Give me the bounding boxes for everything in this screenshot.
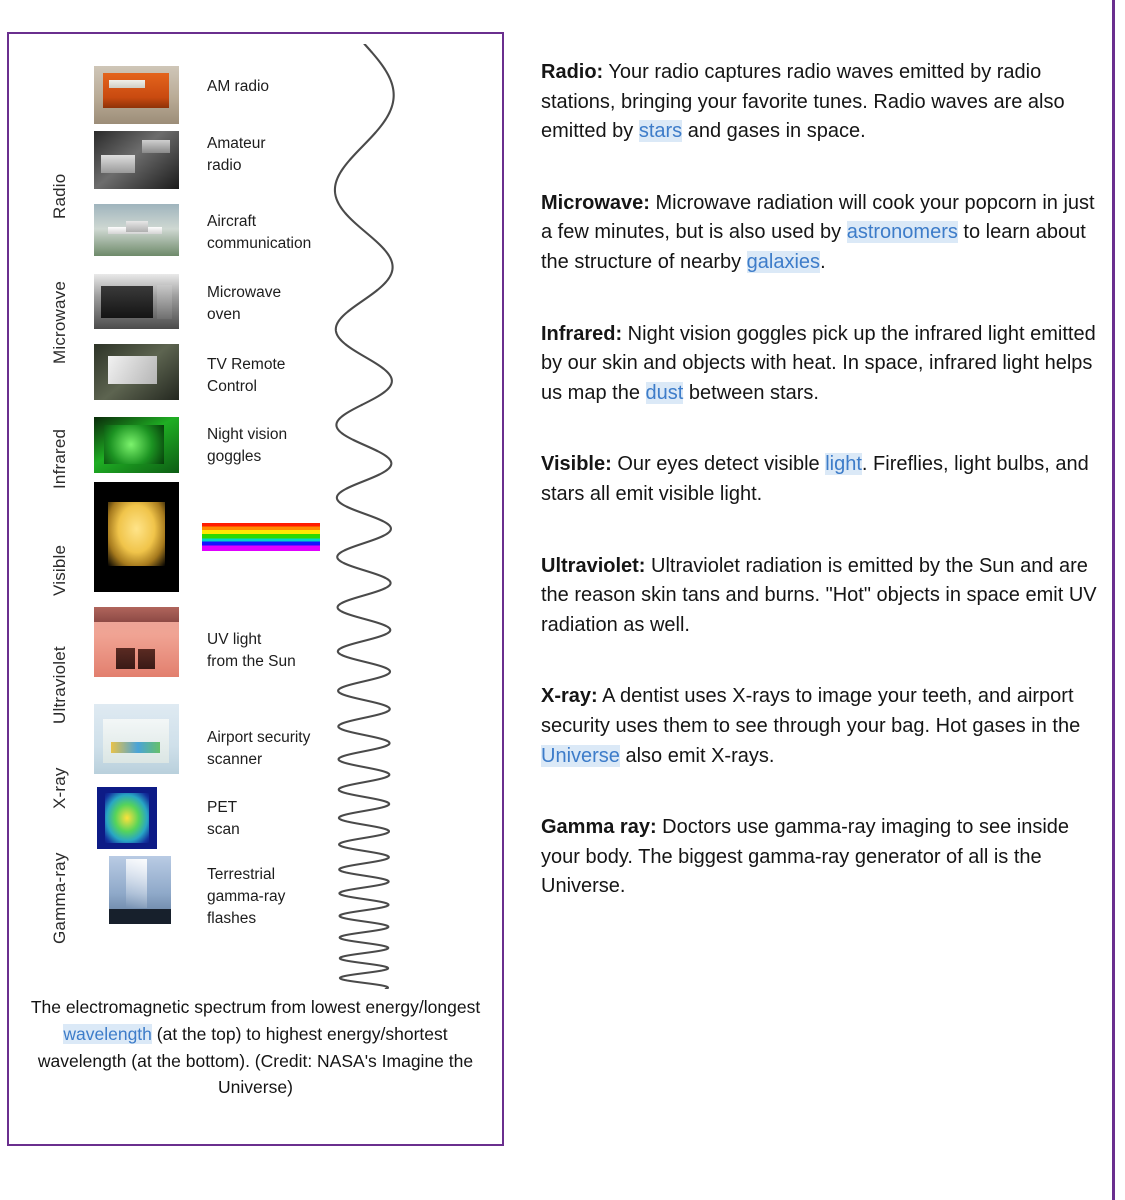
example-label-am-radio: AM radio (207, 76, 269, 98)
visible-spectrum-bar (202, 523, 320, 551)
thumb-layer (111, 742, 160, 753)
inline-text: The electromagnetic spectrum from lowest… (31, 997, 480, 1017)
thumb-layer (101, 155, 135, 172)
paragraph-ultraviolet: Ultraviolet: Ultraviolet radiation is em… (541, 552, 1109, 641)
paragraph-microwave: Microwave: Microwave radiation will cook… (541, 189, 1109, 278)
example-label-microwave: Microwave oven (207, 282, 281, 326)
band-label-text: Gamma-ray (51, 852, 68, 944)
thumb-layer (157, 285, 172, 319)
figure-inner: RadioMicrowaveInfraredVisibleUltraviolet… (9, 34, 502, 1144)
paragraph-term: Microwave: (541, 192, 650, 214)
example-label-terrestrial: Terrestrial gamma-ray flashes (207, 864, 285, 930)
tv-remote-photo (94, 344, 179, 400)
thumb-layer (116, 648, 135, 669)
example-label-amateur: Amateur radio (207, 133, 266, 177)
thumb-layer (109, 80, 145, 88)
example-label-pet: PET scan (207, 797, 240, 841)
inline-text: A dentist uses X-rays to image your teet… (541, 685, 1080, 737)
example-label-tv-remote: TV Remote Control (207, 354, 285, 398)
inline-link[interactable]: astronomers (847, 221, 958, 243)
thumb-layer (105, 793, 149, 843)
paragraph-xray: X-ray: A dentist uses X-rays to image yo… (541, 682, 1109, 771)
example-label-aircraft: Aircraft communication (207, 211, 311, 255)
paragraph-term: X-ray: (541, 685, 598, 707)
pet-scan-photo (97, 787, 157, 849)
thumb-layer (109, 909, 171, 924)
thumb-layer (108, 502, 166, 566)
band-label-text: Visible (51, 545, 68, 596)
band-label-text: Ultraviolet (51, 646, 68, 724)
inline-text: between stars. (683, 382, 819, 404)
inline-link[interactable]: stars (639, 120, 682, 142)
paragraph-term: Ultraviolet: (541, 555, 645, 577)
inline-text: Our eyes detect visible (612, 453, 825, 475)
uv-sun-photo (94, 607, 179, 677)
thumb-layer (94, 607, 179, 622)
paragraph-gamma-ray: Gamma ray: Doctors use gamma-ray imaging… (541, 813, 1109, 902)
thumb-layer (138, 649, 155, 669)
spectrum-description-column: Radio: Your radio captures radio waves e… (541, 58, 1109, 902)
thumb-layer (126, 221, 148, 232)
page-right-rule (1112, 0, 1115, 1200)
night-vision-photo (94, 417, 179, 473)
inline-link[interactable]: light (825, 453, 862, 475)
band-label-text: X-ray (51, 767, 68, 809)
inline-link[interactable]: dust (646, 382, 684, 404)
paragraph-term: Radio: (541, 61, 603, 83)
amateur-radio-photo (94, 131, 179, 189)
light-bulb-photo (94, 482, 179, 592)
lightning-photo (109, 856, 171, 924)
thumb-layer (142, 140, 171, 153)
example-label-uv-light: UV light from the Sun (207, 629, 296, 673)
example-label-night-vision: Night vision goggles (207, 424, 287, 468)
band-label-text: Microwave (51, 281, 68, 364)
example-label-airport-security: Airport security scanner (207, 727, 310, 771)
thumb-layer (101, 286, 154, 318)
figure-panel: RadioMicrowaveInfraredVisibleUltraviolet… (7, 32, 504, 1146)
inline-link[interactable]: wavelength (63, 1024, 152, 1044)
am-radio-photo (94, 66, 179, 124)
band-label-text: Radio (51, 174, 68, 219)
paragraph-term: Gamma ray: (541, 816, 657, 838)
aircraft-photo (94, 204, 179, 256)
inline-text: . (820, 251, 826, 273)
band-label-text: Infrared (51, 429, 68, 489)
paragraph-term: Infrared: (541, 323, 622, 345)
paragraph-term: Visible: (541, 453, 612, 475)
paragraph-infrared: Infrared: Night vision goggles pick up t… (541, 320, 1109, 409)
thumb-layer (103, 73, 169, 108)
paragraph-visible: Visible: Our eyes detect visible light. … (541, 450, 1109, 509)
figure-caption: The electromagnetic spectrum from lowest… (19, 994, 492, 1101)
microwave-oven-photo (94, 274, 179, 329)
thumb-layer (104, 425, 164, 464)
airport-scanner-photo (94, 704, 179, 774)
inline-link[interactable]: galaxies (747, 251, 820, 273)
inline-link[interactable]: Universe (541, 745, 620, 767)
electromagnetic-wave-curve (309, 44, 419, 989)
inline-text: also emit X-rays. (620, 745, 774, 767)
thumb-layer (126, 859, 147, 908)
paragraph-radio: Radio: Your radio captures radio waves e… (541, 58, 1109, 147)
thumb-layer (108, 356, 157, 384)
inline-text: and gases in space. (682, 120, 865, 142)
